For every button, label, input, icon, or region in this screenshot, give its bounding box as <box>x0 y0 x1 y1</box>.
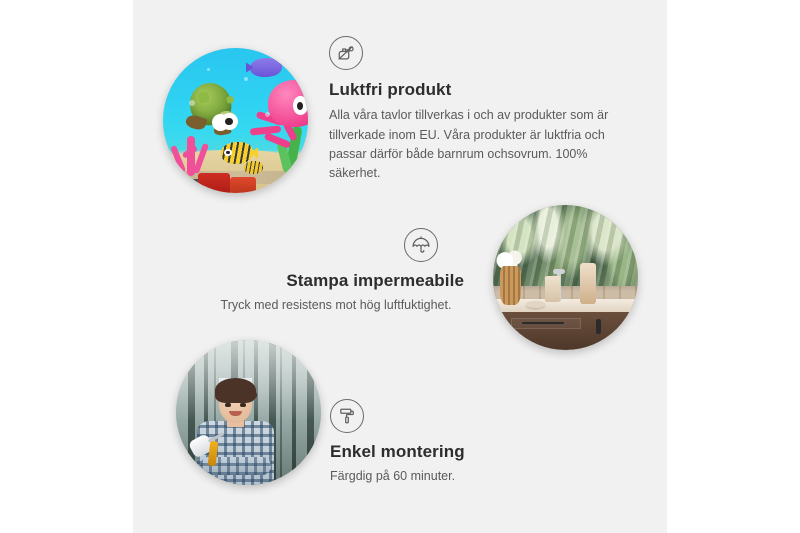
bubble <box>244 77 248 81</box>
underwater-cartoon-medallion <box>163 48 308 193</box>
gold-vase <box>500 266 520 305</box>
feature-title: Stampa impermeabile <box>196 270 476 291</box>
forest-wallpaper-installer-medallion <box>176 340 321 485</box>
eyes <box>225 403 247 408</box>
feature-block-luktfri-produkt: Luktfri produkt Alla våra tavlor tillver… <box>329 36 629 184</box>
feature-description: Alla våra tavlor tillverkas i och av pro… <box>329 106 629 184</box>
feature-title: Luktfri produkt <box>329 79 629 100</box>
feature-infographic: Luktfri produkt Alla våra tavlor tillver… <box>0 0 800 533</box>
feature-block-stampa-impermeabile: Stampa impermeabile Tryck med resistens … <box>196 228 476 316</box>
paint-roller-icon <box>330 399 364 433</box>
bathroom-vanity-medallion <box>493 205 638 350</box>
bubble <box>207 68 210 71</box>
feature-description: Färgdig på 60 minuter. <box>330 467 590 486</box>
underwater-scene <box>163 48 308 193</box>
pink-octopus <box>253 80 308 155</box>
drawer-handle <box>522 322 563 324</box>
bubble <box>265 112 270 117</box>
soap-dish <box>526 301 545 308</box>
hair <box>215 378 255 403</box>
feature-block-enkel-montering: Enkel montering Färgdig på 60 minuter. <box>330 399 590 487</box>
no-fragrance-icon <box>329 36 363 70</box>
purple-fish <box>250 58 282 77</box>
octopus-eye <box>293 96 308 115</box>
bathroom-scene <box>493 205 638 350</box>
decor-bottle <box>580 263 596 304</box>
forest-scene <box>176 340 321 485</box>
feature-description: Tryck med resistens mot hög luftfuktighe… <box>196 296 476 315</box>
installer-person <box>193 378 277 485</box>
soap-dispenser <box>545 276 560 302</box>
sea-turtle <box>183 83 250 141</box>
feature-title: Enkel montering <box>330 441 590 462</box>
sunken-crate-red <box>198 173 230 193</box>
wood-cabinet <box>499 312 638 350</box>
turtle-eye <box>221 113 238 130</box>
sunken-crate-red-2 <box>230 177 256 193</box>
umbrella-icon <box>404 228 438 262</box>
octopus-tentacle <box>263 132 290 148</box>
door-handle <box>596 319 600 334</box>
